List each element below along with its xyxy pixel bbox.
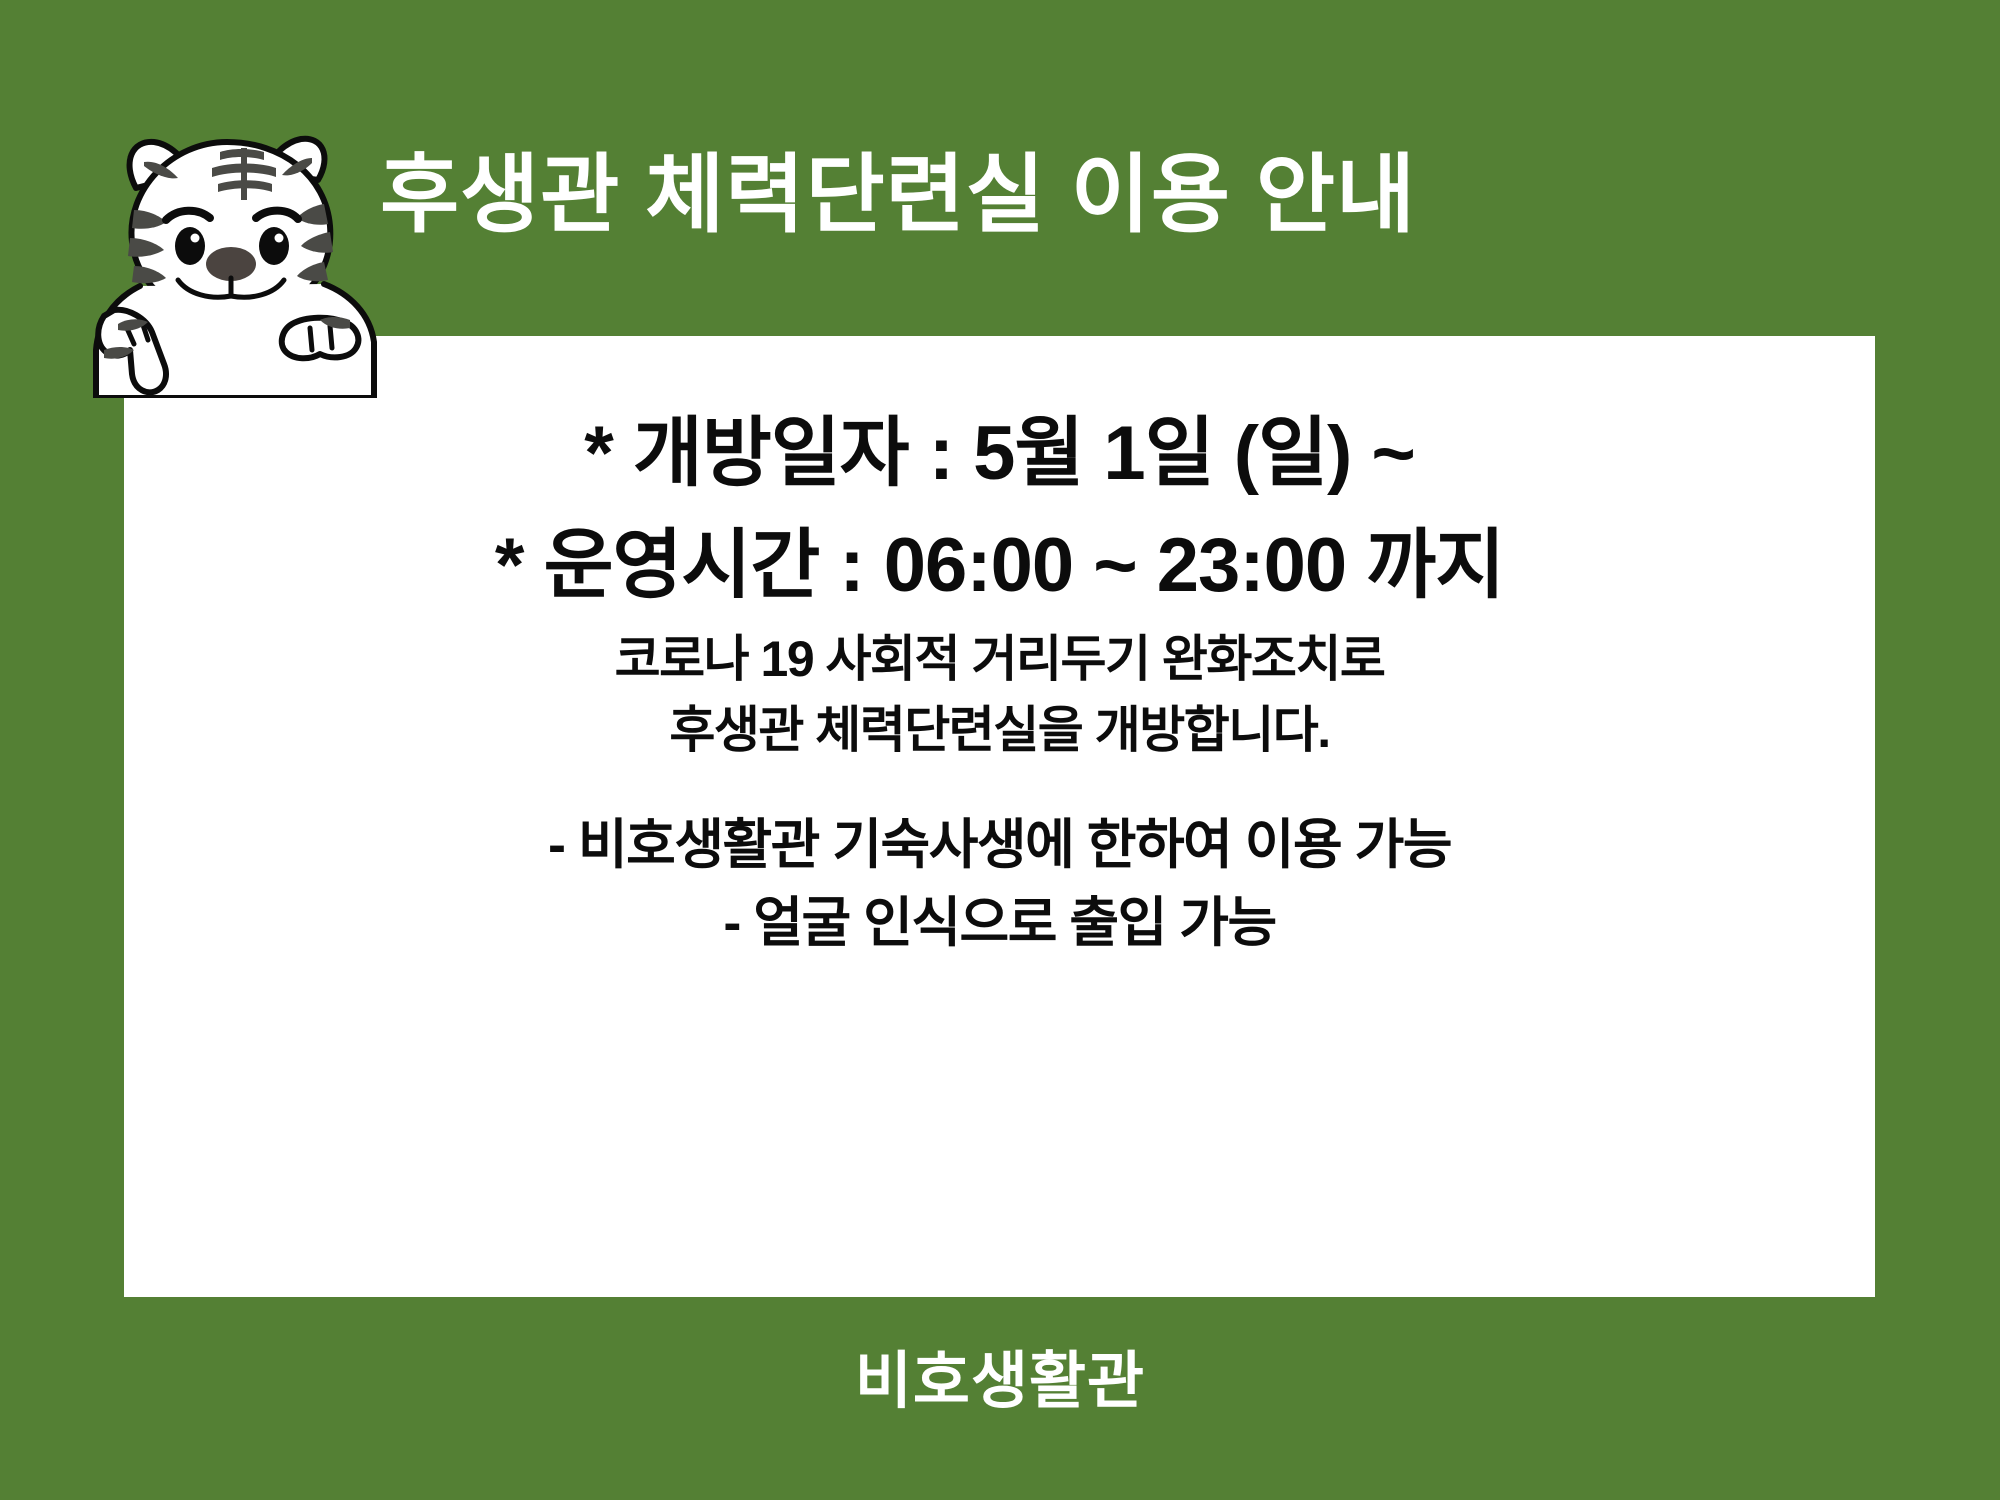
poster-root: 후생관 체력단련실 이용 안내 * 개방일자 : 5월 1일 (일) ~ * 운… — [0, 0, 2000, 1500]
headline-block: * 개방일자 : 5월 1일 (일) ~ * 운영시간 : 06:00 ~ 23… — [124, 398, 1875, 623]
notes-block: - 비호생활관 기숙사생에 한하여 이용 가능 - 얼굴 인식으로 출입 가능 — [124, 806, 1875, 963]
body-line-1: 코로나 19 사회적 거리두기 완화조치로 — [124, 624, 1875, 695]
body-block: 코로나 19 사회적 거리두기 완화조치로 후생관 체력단련실을 개방합니다. — [124, 624, 1875, 766]
body-line-2: 후생관 체력단련실을 개방합니다. — [124, 695, 1875, 766]
note-line-face-recognition: - 얼굴 인식으로 출입 가능 — [124, 884, 1875, 962]
footer-organization: 비호생활관 — [0, 1330, 2000, 1420]
content-card: * 개방일자 : 5월 1일 (일) ~ * 운영시간 : 06:00 ~ 23… — [124, 336, 1875, 1297]
page-title: 후생관 체력단련실 이용 안내 — [380, 150, 1800, 240]
content-card-inner: * 개방일자 : 5월 1일 (일) ~ * 운영시간 : 06:00 ~ 23… — [124, 336, 1875, 1297]
headline-open-date: * 개방일자 : 5월 1일 (일) ~ — [124, 398, 1875, 510]
note-line-dormitory-only: - 비호생활관 기숙사생에 한하여 이용 가능 — [124, 806, 1875, 884]
headline-operating-hours: * 운영시간 : 06:00 ~ 23:00 까지 — [124, 510, 1875, 622]
